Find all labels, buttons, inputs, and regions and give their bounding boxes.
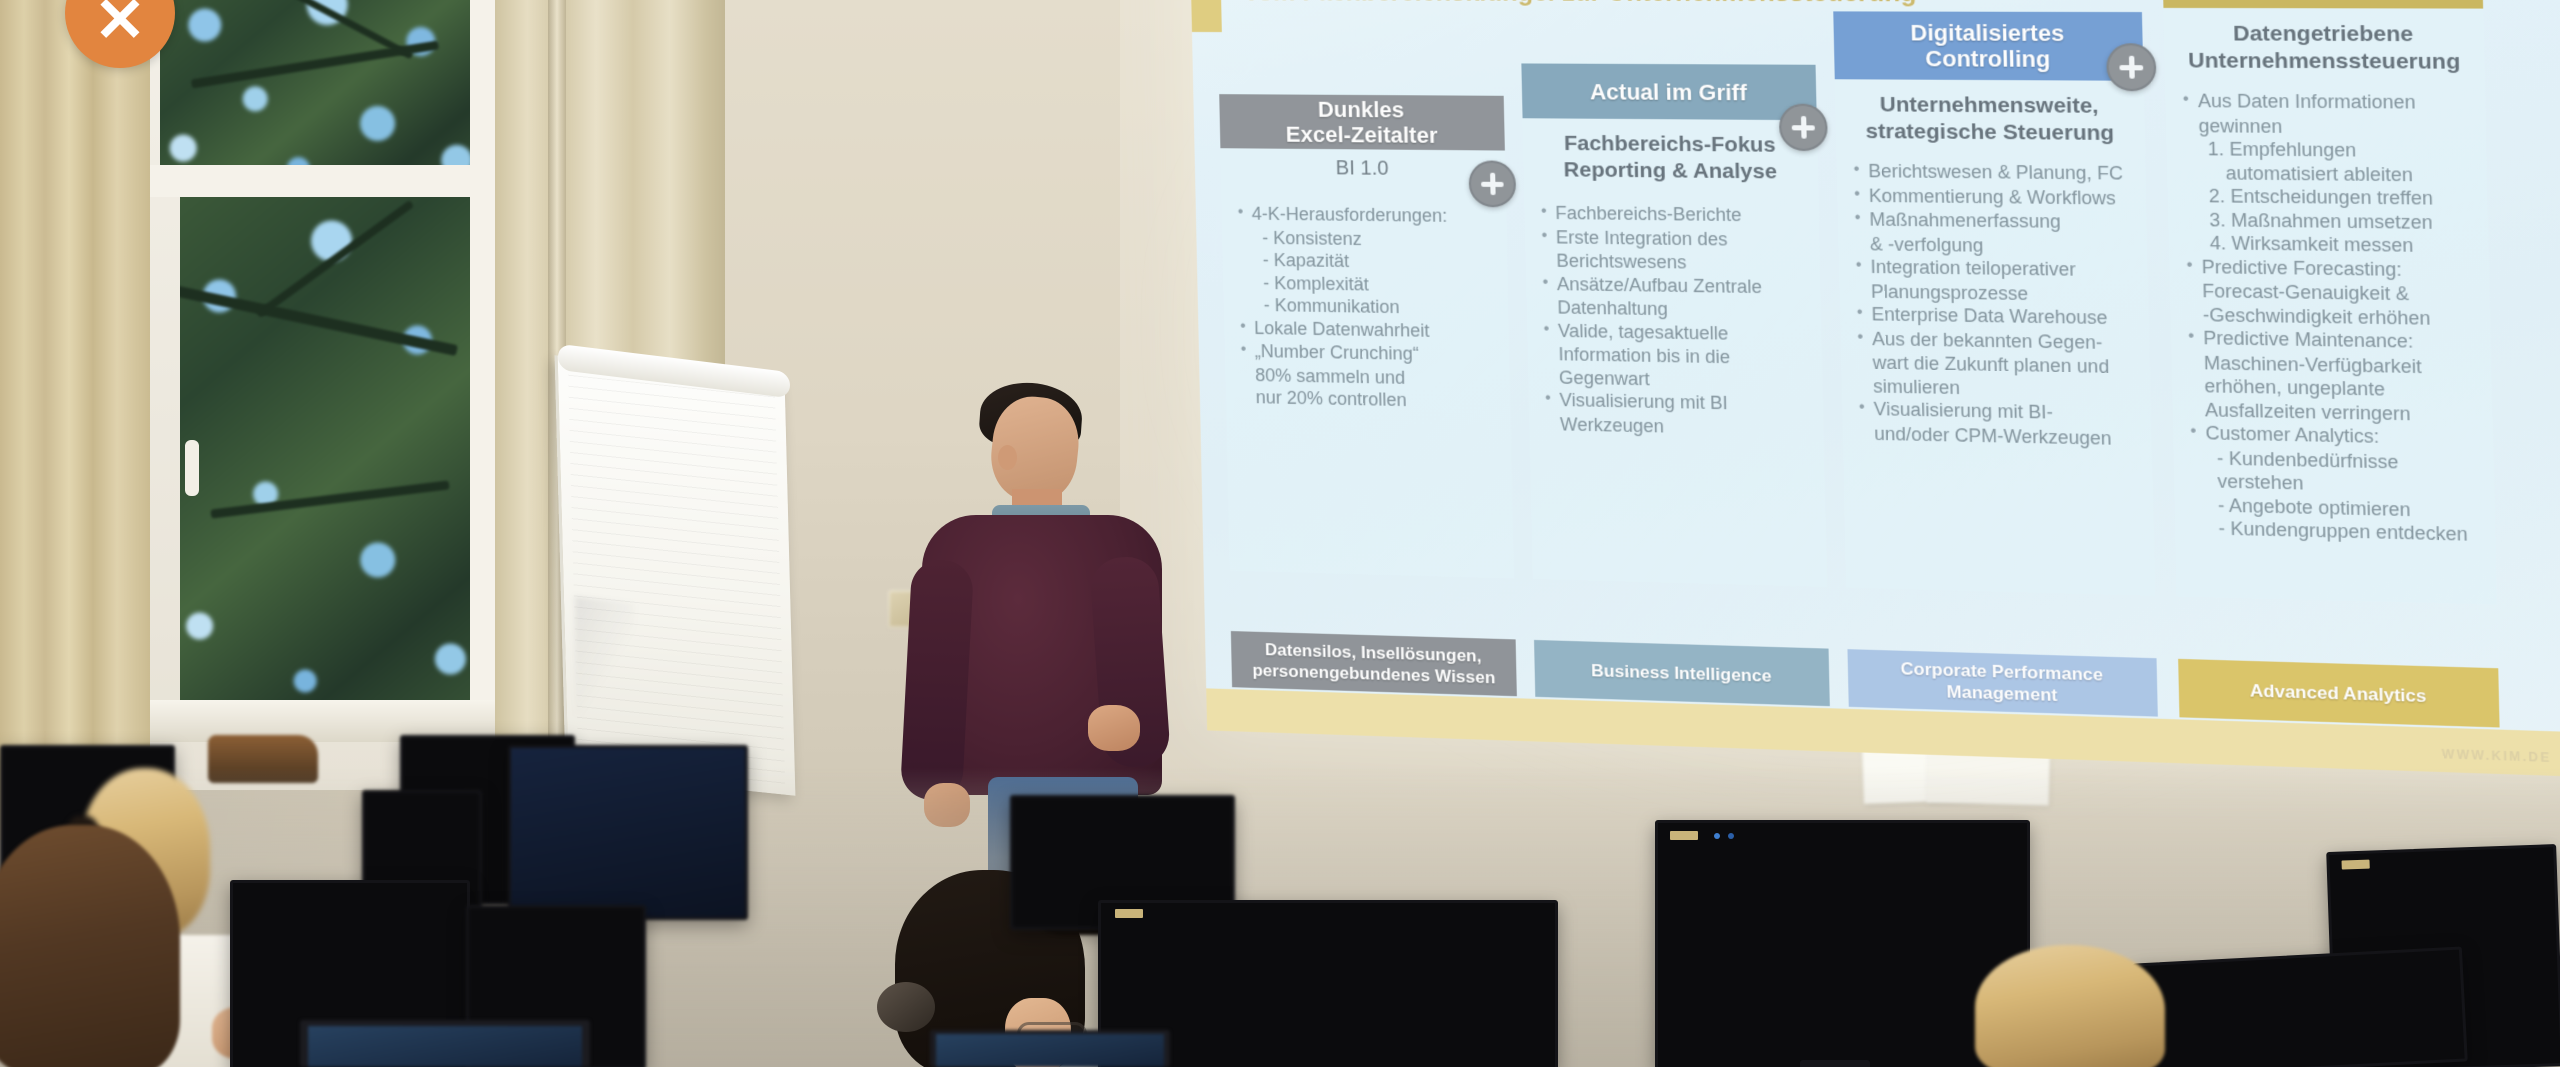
list-item: - Kapazität (1237, 249, 1500, 275)
monitor-stand (1800, 1060, 1870, 1067)
column-list-dunkles: 4-K-Herausforderungen:- Konsistenz- Kapa… (1236, 202, 1503, 413)
band-line1: Advanced Analytics (2250, 679, 2427, 706)
flipchart-lines (568, 375, 785, 785)
window-transom (142, 165, 502, 197)
list-item: gewinnen (2181, 114, 2477, 140)
monitor (1655, 820, 2030, 1067)
column-subtitle-line2: strategische Steuerung (1865, 120, 2114, 146)
list-item: - Konsistenz (1236, 226, 1499, 252)
curtain-left (0, 0, 150, 840)
column-header-kuenstliche-intelligenz: Künstliche Intelligenz (2162, 0, 2483, 9)
column-header-line1: Digitalisiertes (1910, 20, 2064, 46)
presenter-ear (998, 445, 1017, 470)
flipchart-scribble (575, 596, 635, 723)
stage-column-dunkles-excel-zeitalter: Dunkles Excel-Zeitalter BI 1.0 4-K-Herau… (1218, 36, 1502, 37)
list-item: Forecast-Genauigkeit & (2185, 279, 2481, 307)
column-list-ki: Aus Daten Informationengewinnen1. Empfeh… (2180, 89, 2486, 547)
hair-scrunchie (877, 982, 935, 1032)
column-subtitle-line1: Datengetriebene (2233, 22, 2414, 47)
list-item: Fachbereichs-Berichte (1539, 202, 1811, 228)
flipchart-paper (555, 355, 796, 796)
list-item: Aus Daten Informationen (2180, 89, 2476, 114)
list-item: Aus der bekannten Gegen- (1855, 327, 2141, 355)
column-header-digitalisiertes-controlling: Digitalisiertes Controlling (1833, 11, 2143, 80)
list-item: - Kundenbedürfnisse verstehen (2188, 446, 2485, 500)
band-line1: Corporate Performance (1900, 659, 2103, 685)
column-header-dunkles-excel-zeitalter: Dunkles Excel-Zeitalter (1219, 94, 1505, 150)
stage-column-kuenstliche-intelligenz: Künstliche Intelligenz Datengetriebene U… (2164, 39, 2484, 40)
list-item: Ansätze/Aufbau Zentrale (1540, 272, 1812, 299)
classroom-presentation-screenshot: ENTWICKLUNGSSTUFEN DES CONTROLLINGS Vom … (0, 0, 2560, 1067)
close-label: ✕ (94, 0, 146, 52)
column-subtitle-line1: Unternehmensweite, (1880, 93, 2099, 118)
list-item: 1. Empfehlungen (2181, 137, 2477, 163)
plus-icon[interactable] (1468, 160, 1516, 207)
list-item: „Number Crunching“ (1239, 340, 1502, 367)
plus-icon[interactable] (2106, 43, 2157, 91)
plus-icon[interactable] (1779, 104, 1828, 152)
list-item: Lokale Datenwahrheit (1238, 316, 1501, 343)
list-item: 4-K-Herausforderungen: (1236, 202, 1499, 228)
column-header-line2: Controlling (1925, 46, 2050, 72)
student-person (1975, 945, 2165, 1067)
column-list-actual: Fachbereichs-BerichteErste Integration d… (1539, 202, 1816, 441)
window-pane-top (160, 0, 480, 165)
window-pane-main (180, 195, 470, 705)
tree-foliage-icon (180, 195, 470, 705)
band-corporate-performance-management: Corporate Performance Management (1847, 649, 2157, 716)
list-item: Integration teiloperativer (1853, 255, 2139, 282)
band-advanced-analytics: Advanced Analytics (2178, 659, 2499, 728)
laptop (300, 1020, 590, 1067)
column-subtitle-line2: Unternehmenssteuerung (2188, 49, 2461, 74)
list-item: Valide, tagesaktuelle (1541, 319, 1813, 346)
slide: ENTWICKLUNGSSTUFEN DES CONTROLLINGS Vom … (1190, 0, 2560, 778)
column-subtitle-line1: Fachbereichs-Fokus (1564, 132, 1776, 157)
band-line2: Management (1946, 682, 2057, 705)
window-handle[interactable] (185, 440, 199, 496)
list-item: Enterprise Data Warehouse (1854, 303, 2140, 331)
projection-surface: ENTWICKLUNGSSTUFEN DES CONTROLLINGS Vom … (1190, 0, 2560, 853)
stage-column-actual-im-griff: Actual im Griff Fachbereichs-Fokus Repor… (1521, 37, 1815, 38)
column-header-line1: Dunkles (1318, 97, 1405, 123)
list-item: 2. Entscheidungen treffen (2183, 184, 2479, 211)
stage-column-digitalisiertes-controlling: Digitalisiertes Controlling Unternehmens… (1834, 38, 2143, 39)
slide-accent-bar (1190, 0, 1222, 32)
column-header-actual-im-griff: Actual im Griff (1521, 63, 1816, 120)
column-header-line2: Excel-Zeitalter (1286, 122, 1438, 148)
column-subtitle-ki: Datengetriebene Unternehmenssteuerung (2164, 20, 2485, 76)
laptop (930, 1030, 1170, 1067)
list-item: Predictive Maintenance: (2186, 326, 2482, 354)
column-subtitle-actual: Fachbereichs-Fokus Reporting & Analyse (1523, 130, 1818, 186)
stage-columns: Dunkles Excel-Zeitalter BI 1.0 4-K-Herau… (1218, 36, 2560, 677)
column-list-digital: Berichtswesen & Planung, FCKommentierung… (1851, 160, 2143, 451)
presenter-arm-left (900, 559, 974, 802)
monitor (508, 745, 748, 920)
band-business-intelligence: Business Intelligence (1534, 640, 1830, 706)
monitor (2132, 946, 2468, 1067)
band-datensilos: Datensilos, Insellösungen, personengebun… (1231, 631, 1517, 696)
list-item: 3. Maßnahmen umsetzen (2183, 208, 2479, 235)
list-item: Berichtswesen & Planung, FC (1851, 160, 2137, 186)
column-subtitle-line2: Reporting & Analyse (1564, 158, 1778, 183)
presenter-hand-right (1088, 705, 1140, 751)
list-item: Maßnahmenerfassung (1852, 208, 2138, 234)
column-tag-bi10: BI 1.0 (1221, 156, 1506, 182)
column-header-line1: Actual im Griff (1590, 79, 1748, 105)
list-item: Predictive Forecasting: (2184, 255, 2480, 282)
list-item: Kommentierung & Workflows (1852, 184, 2138, 210)
column-subtitle-digital: Unternehmensweite, strategische Steuerun… (1835, 92, 2145, 148)
list-item: automatisiert ableiten (2182, 161, 2478, 187)
band-line1: Business Intelligence (1591, 659, 1772, 686)
list-item: Erste Integration des (1539, 225, 1811, 251)
